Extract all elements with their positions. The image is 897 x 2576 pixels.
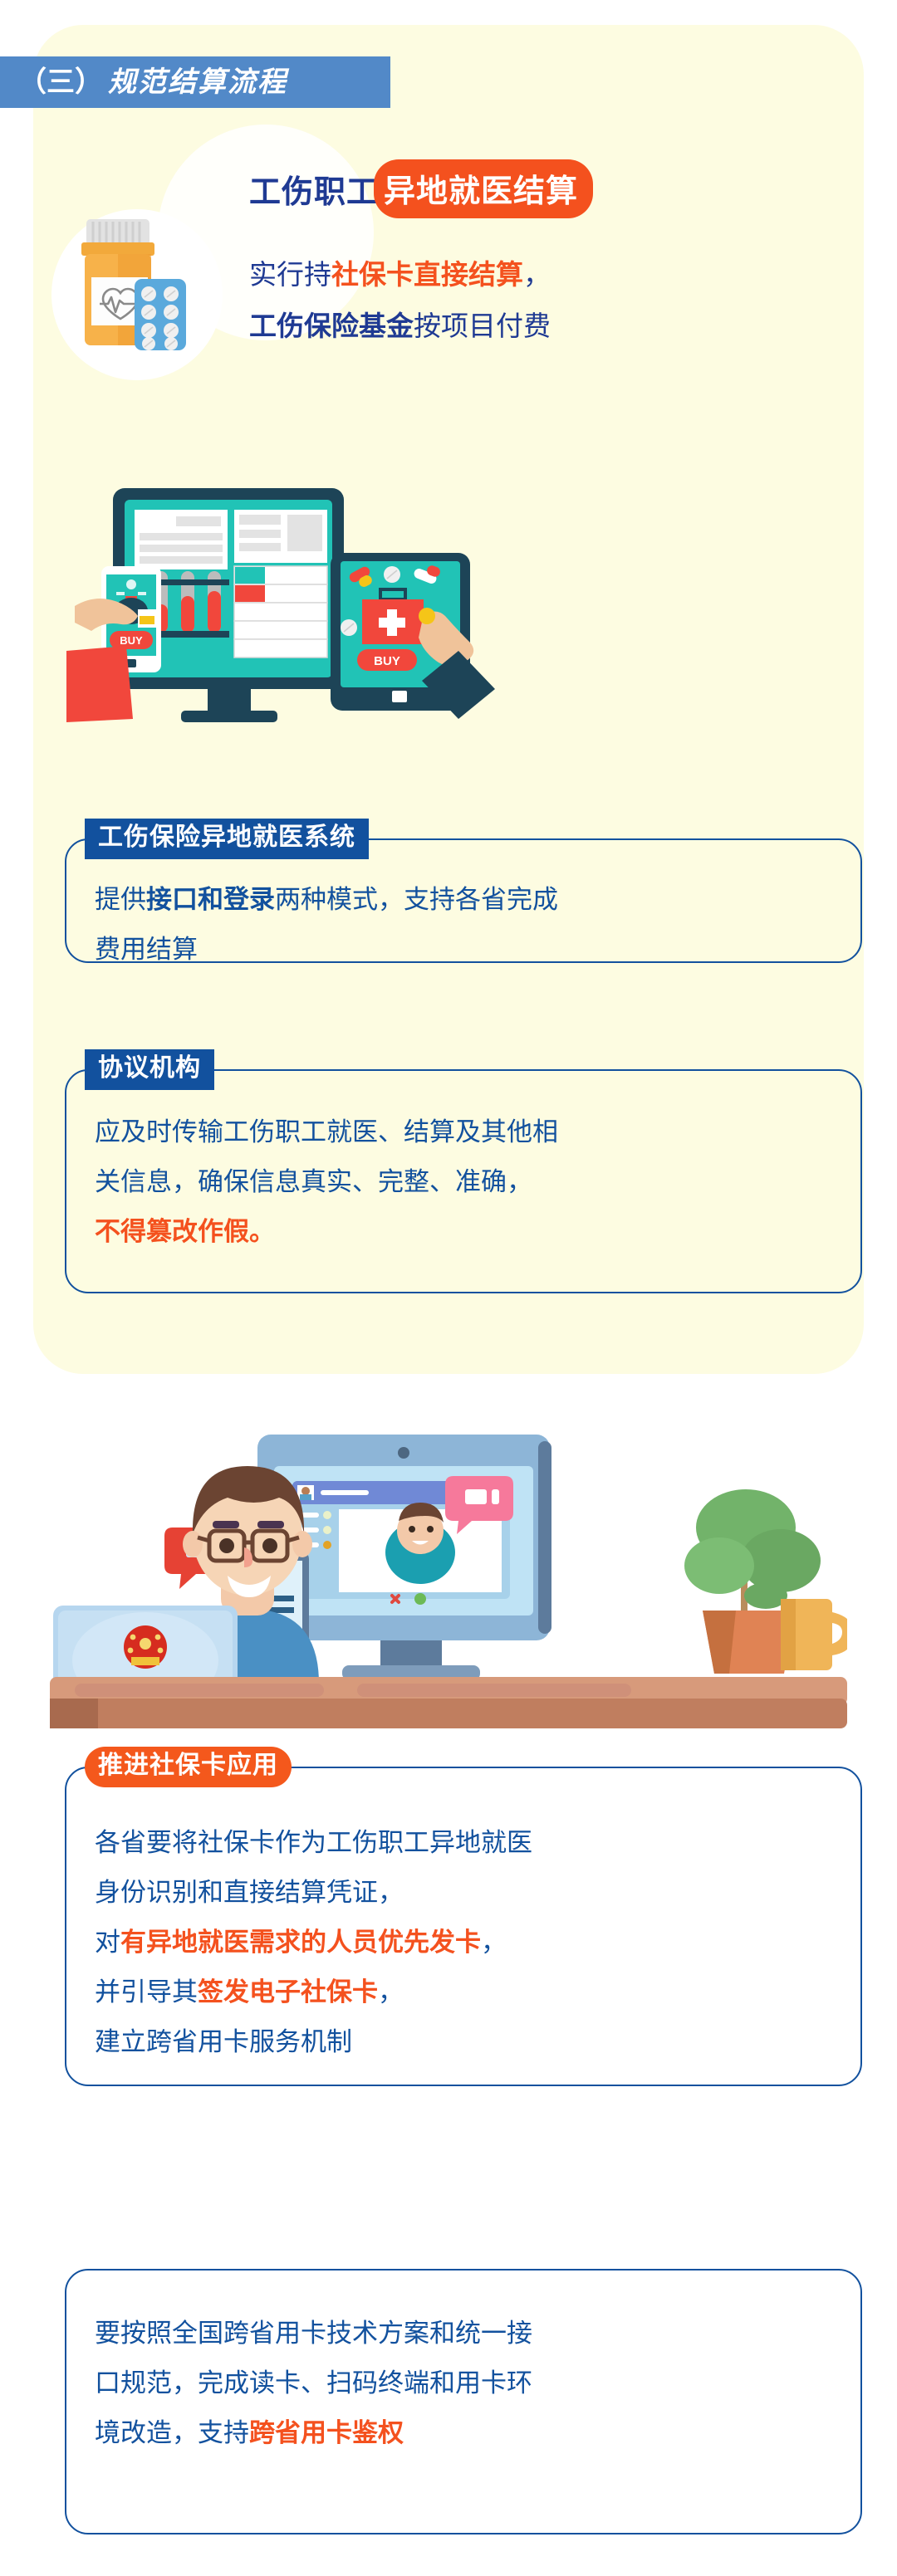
text-segment-highlight: 跨省用卡鉴权 bbox=[249, 2418, 404, 2447]
intro-line2-bold: 工伤保险基金 bbox=[249, 310, 414, 341]
infographic-page: （三）规范结算流程 bbox=[0, 0, 897, 2576]
callout-agency-line-2: 关信息，确保信息真实、完整、准确， bbox=[95, 1157, 832, 1207]
intro-line2-post: 按项目付费 bbox=[414, 310, 551, 341]
intro-line1-post: ， bbox=[523, 259, 551, 290]
callout-system-line-1: 提供接口和登录两种模式，支持各省完成 bbox=[95, 875, 832, 925]
telemedicine-desk-illustration: 中华人民共和国 社会保障卡 bbox=[50, 1403, 847, 1735]
text-segment: 费用结算 bbox=[95, 935, 198, 964]
title-badge: 异地就医结算 bbox=[374, 159, 593, 218]
callout-ssc-line-5: 建立跨省用卡服务机制 bbox=[95, 2017, 832, 2067]
callout-social-security-card: 推进社保卡应用 各省要将社保卡作为工伤职工异地就医 身份识别和直接结算凭证， 对… bbox=[65, 1767, 862, 2086]
page-title: 工伤职工 异地就医结算 bbox=[249, 159, 831, 218]
callout-system-label: 工伤保险异地就医系统 bbox=[85, 819, 369, 859]
text-segment-highlight: 。 bbox=[249, 1217, 275, 1246]
section-title: 规范结算流程 bbox=[108, 66, 287, 98]
intro-line1-pre: 实行持 bbox=[249, 259, 331, 290]
text-segment: 提供 bbox=[95, 885, 146, 914]
svg-text:BUY: BUY bbox=[120, 634, 143, 647]
text-segment: 各省要将社保卡作为工伤职工异地就医 bbox=[95, 1828, 532, 1857]
text-segment: 并引导其 bbox=[95, 1977, 198, 2007]
text-segment: 口规范，完成读卡、扫码终端和用卡环 bbox=[95, 2368, 532, 2398]
callout-ssc-body: 各省要将社保卡作为工伤职工异地就医 身份识别和直接结算凭证， 对有异地就医需求的… bbox=[66, 1768, 860, 2089]
text-segment: ， bbox=[378, 1977, 404, 2007]
text-segment: ， bbox=[481, 1928, 507, 1957]
section-header-text: （三）规范结算流程 bbox=[18, 68, 287, 96]
text-segment: 要按照全国跨省用卡技术方案和统一接 bbox=[95, 2319, 532, 2348]
callout-tech-line-2: 口规范，完成读卡、扫码终端和用卡环 bbox=[95, 2358, 832, 2408]
text-segment: 对 bbox=[95, 1928, 120, 1957]
intro-line-2: 工伤保险基金按项目付费 bbox=[249, 301, 831, 352]
callout-system: 工伤保险异地就医系统 提供接口和登录两种模式，支持各省完成 费用结算 bbox=[65, 838, 862, 963]
section-header-ribbon: （三）规范结算流程 bbox=[0, 56, 390, 108]
callout-system-body: 提供接口和登录两种模式，支持各省完成 费用结算 bbox=[66, 840, 860, 996]
intro-line1-highlight: 社保卡直接结算 bbox=[331, 259, 523, 290]
callout-ssc-line-3: 对有异地就医需求的人员优先发卡， bbox=[95, 1918, 832, 1967]
callout-system-line-2: 费用结算 bbox=[95, 925, 832, 975]
text-segment: 身份识别和直接结算凭证， bbox=[95, 1878, 404, 1907]
title-prefix: 工伤职工 bbox=[249, 166, 379, 212]
callout-agency-body: 应及时传输工伤职工就医、结算及其他相 关信息，确保信息真实、完整、准确， 不得篡… bbox=[66, 1071, 860, 1278]
text-segment: 应及时传输工伤职工就医、结算及其他相 bbox=[95, 1117, 558, 1146]
text-segment: 两种模式，支持各省完成 bbox=[275, 885, 558, 914]
text-segment: 建立跨省用卡服务机制 bbox=[95, 2027, 352, 2056]
online-pharmacy-illustration: BUY BUY bbox=[66, 473, 681, 805]
text-segment: 境改造，支持 bbox=[95, 2418, 249, 2447]
callout-technical-spec: 要按照全国跨省用卡技术方案和统一接 口规范，完成读卡、扫码终端和用卡环 境改造，… bbox=[65, 2269, 862, 2534]
intro-description: 实行持社保卡直接结算， 工伤保险基金按项目付费 bbox=[249, 249, 831, 352]
callout-agency-line-1: 应及时传输工伤职工就医、结算及其他相 bbox=[95, 1107, 832, 1157]
callout-tech-body: 要按照全国跨省用卡技术方案和统一接 口规范，完成读卡、扫码终端和用卡环 境改造，… bbox=[66, 2270, 860, 2480]
callout-agency-line-3: 不得篡改作假。 bbox=[95, 1207, 832, 1257]
callout-ssc-line-2: 身份识别和直接结算凭证， bbox=[95, 1868, 832, 1918]
text-segment-highlight: 有异地就医需求的人员优先发卡 bbox=[120, 1928, 481, 1957]
text-segment: 关信息，确保信息真实、完整、准确， bbox=[95, 1167, 532, 1196]
callout-agency-label: 协议机构 bbox=[85, 1049, 214, 1090]
text-segment-highlight: 不得篡改作假 bbox=[95, 1217, 249, 1246]
callout-ssc-line-1: 各省要将社保卡作为工伤职工异地就医 bbox=[95, 1818, 832, 1868]
callout-tech-line-3: 境改造，支持跨省用卡鉴权 bbox=[95, 2408, 832, 2458]
text-segment-highlight: 签发电子社保卡 bbox=[198, 1977, 378, 2007]
coffee-mug bbox=[781, 1599, 847, 1670]
pill-bottle-illustration bbox=[43, 201, 231, 389]
desk bbox=[50, 1677, 847, 1728]
svg-text:BUY: BUY bbox=[374, 654, 400, 668]
callout-agency: 协议机构 应及时传输工伤职工就医、结算及其他相 关信息，确保信息真实、完整、准确… bbox=[65, 1069, 862, 1293]
intro-line-1: 实行持社保卡直接结算， bbox=[249, 249, 831, 301]
section-number: （三） bbox=[18, 66, 103, 98]
callout-tech-line-1: 要按照全国跨省用卡技术方案和统一接 bbox=[95, 2309, 832, 2358]
text-segment-bold: 接口和登录 bbox=[146, 885, 275, 914]
callout-ssc-line-4: 并引导其签发电子社保卡， bbox=[95, 1967, 832, 2017]
callout-ssc-label: 推进社保卡应用 bbox=[85, 1747, 292, 1787]
